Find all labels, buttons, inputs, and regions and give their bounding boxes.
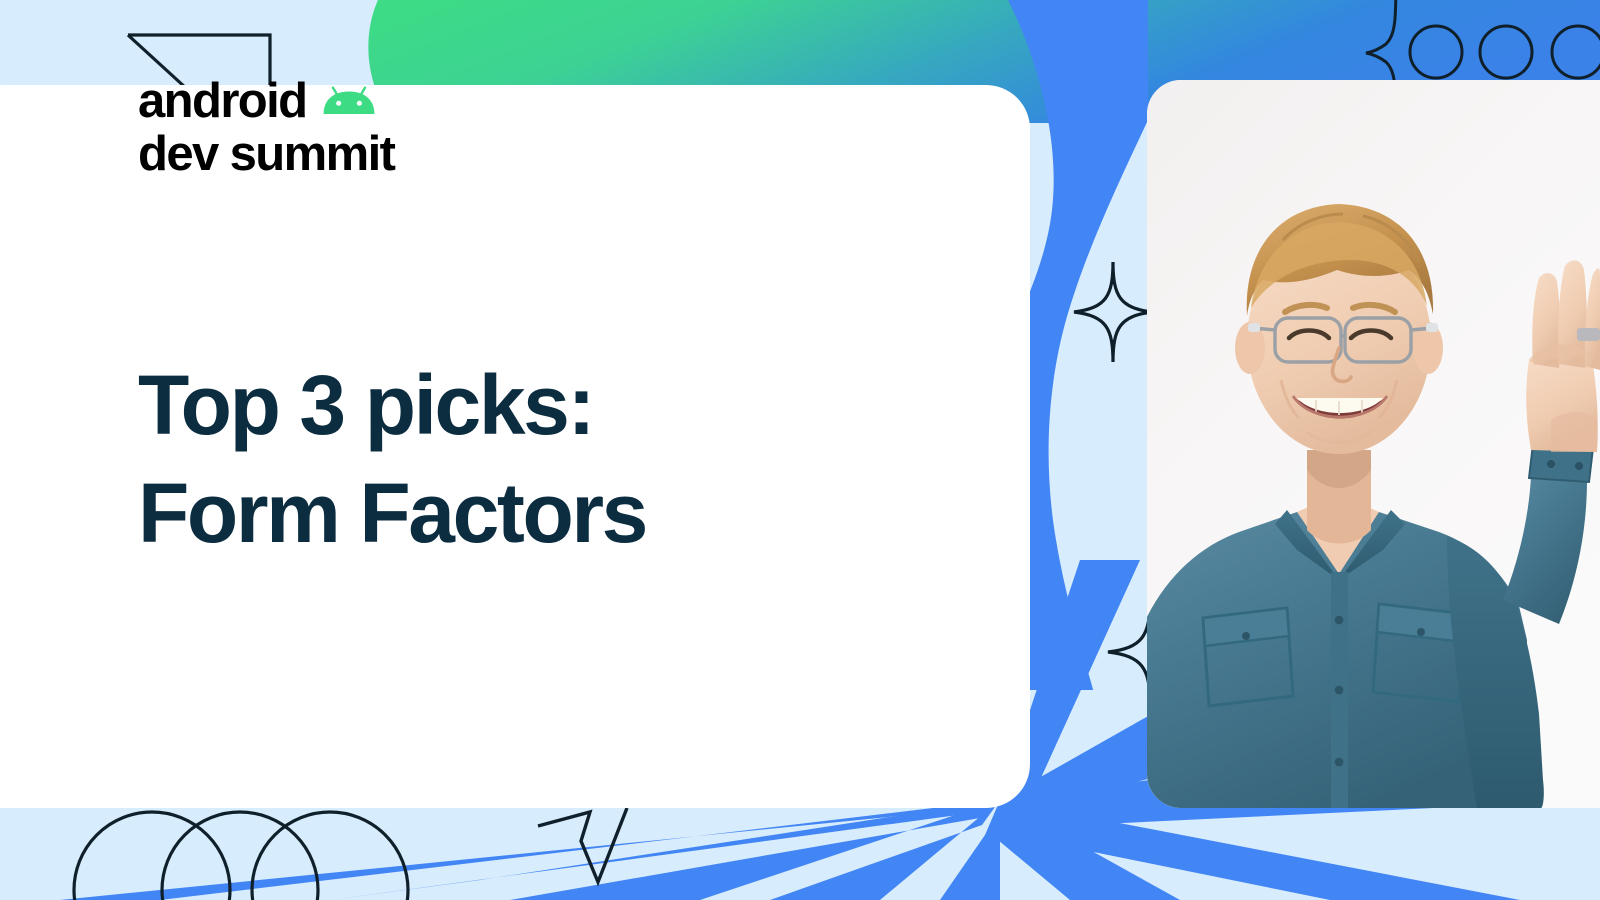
logo-word-dev-summit: dev summit [138, 128, 394, 181]
logo-line-1: android [138, 75, 394, 128]
headline-line-1: Top 3 picks: [138, 352, 646, 460]
slide-canvas: android dev summit Top 3 picks: Form Fac… [0, 0, 1600, 900]
android-robot-icon [320, 83, 378, 115]
speaker-portrait-illustration [1147, 80, 1600, 808]
android-dev-summit-logo: android dev summit [138, 75, 394, 181]
page-title: Top 3 picks: Form Factors [138, 352, 646, 567]
speaker-photo: Smiling man with glasses in a denim butt… [1147, 80, 1600, 808]
logo-word-android: android [138, 75, 306, 128]
logo-line-2: dev summit [138, 128, 394, 181]
headline-line-2: Form Factors [138, 460, 646, 568]
